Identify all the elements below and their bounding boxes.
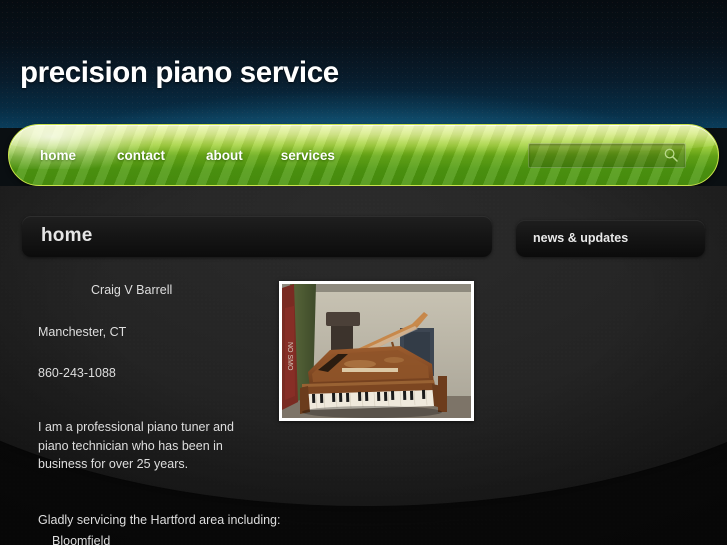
page-root: precision piano service home contact abo… bbox=[0, 0, 727, 545]
content-area: home news & updates Craig V Barrell Manc… bbox=[0, 186, 727, 545]
intro-paragraph: I am a professional piano tuner and pian… bbox=[38, 418, 248, 474]
main-navigation: home contact about services bbox=[8, 124, 719, 186]
contact-city: Manchester, CT bbox=[38, 324, 266, 342]
sidebar-heading: news & updates bbox=[533, 231, 628, 245]
sidebar-heading-bar: news & updates bbox=[516, 220, 705, 257]
site-header: precision piano service bbox=[0, 0, 727, 128]
page-title: home bbox=[41, 225, 92, 247]
search-icon[interactable] bbox=[663, 147, 679, 163]
nav-item-about[interactable]: about bbox=[206, 144, 243, 167]
grand-piano-photo: NO SMO bbox=[279, 281, 474, 421]
nav-item-services[interactable]: services bbox=[281, 144, 335, 167]
nav-item-list: home contact about services bbox=[8, 124, 335, 186]
search-box[interactable] bbox=[528, 143, 686, 168]
nav-item-home[interactable]: home bbox=[40, 144, 76, 167]
svg-text:NO SMO: NO SMO bbox=[286, 342, 293, 371]
main-article: Craig V Barrell Manchester, CT 860-243-1… bbox=[38, 282, 266, 545]
nav-item-contact[interactable]: contact bbox=[117, 144, 165, 167]
page-title-bar: home bbox=[22, 216, 492, 257]
service-area-heading: Gladly servicing the Hartford area inclu… bbox=[38, 512, 266, 530]
search-input[interactable] bbox=[529, 144, 661, 167]
site-title: precision piano service bbox=[20, 56, 339, 90]
service-area-item: Bloomfield bbox=[38, 533, 266, 545]
contact-phone: 860-243-1088 bbox=[38, 365, 266, 383]
contact-name: Craig V Barrell bbox=[38, 282, 266, 300]
